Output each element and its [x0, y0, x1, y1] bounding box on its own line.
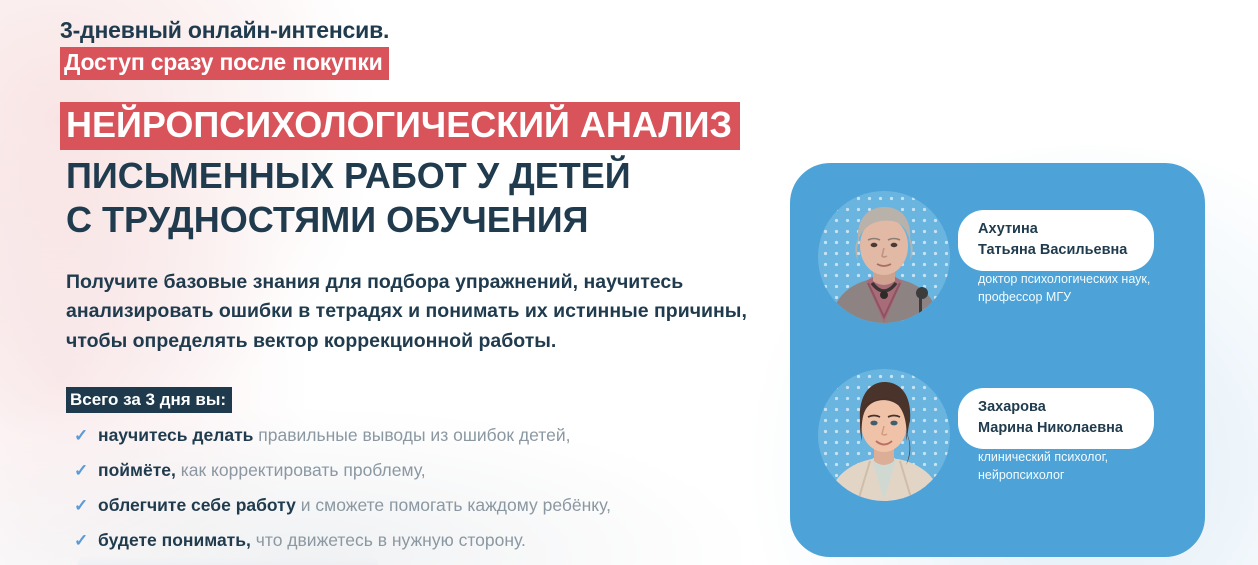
hero-lead-paragraph: Получите базовые знания для подбора упра… [60, 268, 760, 357]
page-title-line-1: НЕЙРОПСИХОЛОГИЧЕСКИЙ АНАЛИЗ [60, 102, 740, 150]
list-item: ✓ поймёте, как корректировать проблему, [74, 460, 760, 482]
avatar [818, 369, 950, 501]
check-icon: ✓ [74, 425, 88, 446]
speakers-card: Ахутина Татьяна Васильевна доктор психол… [790, 163, 1205, 557]
speaker-surname: Ахутина [978, 219, 1134, 240]
check-icon: ✓ [74, 495, 88, 516]
list-item-text: облегчите себе работу и сможете помогать… [98, 495, 611, 517]
list-item: ✓ облегчите себе работу и сможете помога… [74, 495, 760, 517]
hero-kicker-highlight: Доступ сразу после покупки [60, 47, 389, 80]
portrait-akhutina [818, 191, 950, 323]
list-item-strong: облегчите себе работу [98, 495, 296, 515]
hero-text-column: 3-дневный онлайн-интенсив. Доступ сразу … [60, 16, 760, 565]
speaker-role-line-1: доктор психологических наук, [978, 271, 1150, 289]
list-item-text: поймёте, как корректировать проблему, [98, 460, 426, 482]
speaker-row: Ахутина Татьяна Васильевна доктор психол… [790, 185, 1205, 363]
list-item: ✓ научитесь делать правильные выводы из … [74, 425, 760, 447]
promise-heading-wrap: Всего за 3 дня вы: [60, 387, 760, 414]
list-item-rest: что движетесь в нужную сторону. [251, 530, 526, 550]
list-item-text: будете понимать, что движетесь в нужную … [98, 530, 526, 552]
below-fold-element-edge [78, 556, 378, 565]
list-item-text: научитесь делать правильные выводы из ош… [98, 425, 570, 447]
benefits-list: ✓ научитесь делать правильные выводы из … [60, 425, 760, 552]
speaker-surname: Захарова [978, 397, 1134, 418]
page-title-line-2: ПИСЬМЕННЫХ РАБОТ У ДЕТЕЙ [66, 154, 760, 198]
speaker-role: доктор психологических наук, профессор М… [978, 271, 1150, 307]
list-item: ✓ будете понимать, что движетесь в нужну… [74, 530, 760, 552]
page-title-line-3: С ТРУДНОСТЯМИ ОБУЧЕНИЯ [66, 198, 760, 242]
list-item-rest: правильные выводы из ошибок детей, [253, 425, 570, 445]
page-title-remainder: ПИСЬМЕННЫХ РАБОТ У ДЕТЕЙ С ТРУДНОСТЯМИ О… [60, 154, 760, 242]
speaker-role-line-1: клинический психолог, [978, 449, 1108, 467]
speaker-role-line-2: нейропсихолог [978, 467, 1108, 485]
check-icon: ✓ [74, 530, 88, 551]
speaker-role-line-2: профессор МГУ [978, 289, 1150, 307]
speaker-name-pill: Захарова Марина Николаевна [958, 388, 1154, 449]
speaker-given-name: Татьяна Васильевна [978, 240, 1134, 261]
list-item-strong: научитесь делать [98, 425, 253, 445]
speaker-name-pill: Ахутина Татьяна Васильевна [958, 210, 1154, 271]
hero-kicker-highlight-wrap: Доступ сразу после покупки [60, 47, 760, 80]
page-title: НЕЙРОПСИХОЛОГИЧЕСКИЙ АНАЛИЗ ПИСЬМЕННЫХ Р… [60, 102, 760, 242]
speaker-given-name: Марина Николаевна [978, 418, 1134, 439]
speaker-role: клинический психолог, нейропсихолог [978, 449, 1108, 485]
portrait-zakharova [818, 369, 950, 501]
speaker-row: Захарова Марина Николаевна клинический п… [790, 363, 1205, 541]
hero-kicker-line: 3-дневный онлайн-интенсив. [60, 16, 760, 44]
promise-heading: Всего за 3 дня вы: [66, 387, 232, 414]
avatar [818, 191, 950, 323]
list-item-strong: поймёте, [98, 460, 176, 480]
page-title-highlight-wrap: НЕЙРОПСИХОЛОГИЧЕСКИЙ АНАЛИЗ [60, 102, 760, 150]
check-icon: ✓ [74, 460, 88, 481]
list-item-strong: будете понимать, [98, 530, 251, 550]
list-item-rest: и сможете помогать каждому ребёнку, [296, 495, 611, 515]
list-item-rest: как корректировать проблему, [176, 460, 426, 480]
